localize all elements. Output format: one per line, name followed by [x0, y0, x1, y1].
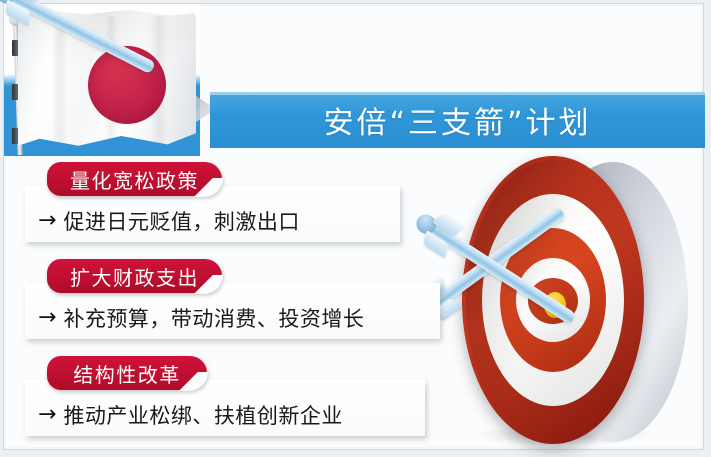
policy-tag-1: 量化宽松政策 — [47, 162, 222, 196]
japan-flag-photo — [4, 4, 200, 156]
policy-tag-3: 结构性改革 — [47, 356, 207, 390]
title-banner: 安倍“三支箭”计划 — [210, 92, 705, 148]
policy-description: 推动产业松绑、扶植创新企业 — [63, 400, 343, 430]
arrow-right-icon: → — [38, 404, 56, 426]
archery-target-graphic — [452, 156, 704, 448]
arrow-right-icon: → — [38, 307, 56, 329]
policy-description: 补充预算，带动消费、投资增长 — [63, 303, 364, 333]
policy-description-row: → 促进日元贬值，刺激出口 — [25, 200, 400, 242]
policy-tag-2: 扩大财政支出 — [47, 259, 222, 293]
flag-clip — [12, 128, 19, 144]
infographic-root: 安倍“三支箭”计划 → 促进日元贬值，刺激出口 量化宽松政策 — [0, 0, 711, 457]
policy-description: 促进日元贬值，刺激出口 — [63, 206, 300, 236]
flag-clip — [12, 84, 19, 100]
page-title: 安倍“三支箭”计划 — [323, 98, 591, 142]
flag-clip — [12, 40, 19, 56]
policy-description-row: → 推动产业松绑、扶植创新企业 — [25, 394, 425, 436]
policy-tag-label: 量化宽松政策 — [52, 165, 217, 194]
flag-fold — [52, 16, 68, 156]
arrow-right-icon: → — [38, 210, 56, 232]
policy-tag-label: 扩大财政支出 — [52, 262, 217, 291]
flag-cloth — [18, 10, 196, 150]
policy-description-row: → 补充预算，带动消费、投资增长 — [25, 297, 440, 339]
policy-tag-label: 结构性改革 — [55, 359, 199, 388]
